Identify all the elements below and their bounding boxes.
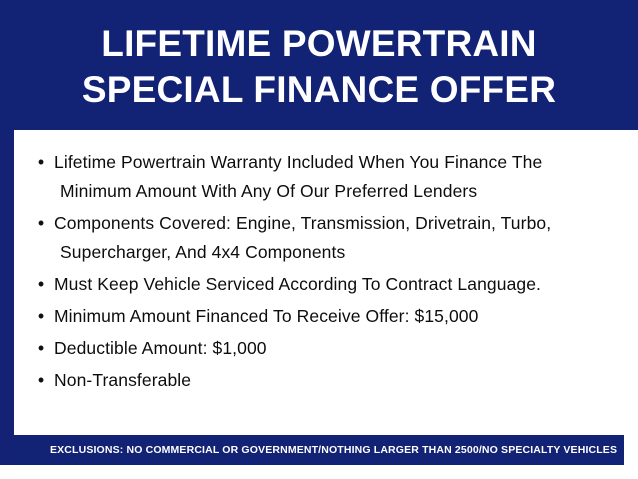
bullet-line: Lifetime Powertrain Warranty Included Wh… bbox=[54, 152, 542, 172]
bullet-line: Deductible Amount: $1,000 bbox=[54, 338, 267, 358]
bullet-dot-icon: • bbox=[28, 148, 54, 177]
bullet-text: Deductible Amount: $1,000 bbox=[54, 334, 624, 363]
bullet-dot-icon: • bbox=[28, 270, 54, 299]
header-title-line-2: SPECIAL FINANCE OFFER bbox=[82, 67, 556, 113]
bullet-list: • Lifetime Powertrain Warranty Included … bbox=[14, 130, 638, 430]
slide-header: LIFETIME POWERTRAIN SPECIAL FINANCE OFFE… bbox=[0, 0, 638, 130]
list-item: • Lifetime Powertrain Warranty Included … bbox=[28, 148, 624, 206]
bullet-line-continued: Minimum Amount With Any Of Our Preferred… bbox=[54, 177, 624, 206]
bullet-line: Components Covered: Engine, Transmission… bbox=[54, 213, 551, 233]
list-item: • Components Covered: Engine, Transmissi… bbox=[28, 209, 624, 267]
bottom-white-strip bbox=[0, 465, 638, 479]
bullet-text: Minimum Amount Financed To Receive Offer… bbox=[54, 302, 624, 331]
bullet-text: Non-Transferable bbox=[54, 366, 624, 395]
bullet-line-continued: Supercharger, And 4x4 Components bbox=[54, 238, 624, 267]
slide: LIFETIME POWERTRAIN SPECIAL FINANCE OFFE… bbox=[0, 0, 638, 479]
header-title-line-1: LIFETIME POWERTRAIN bbox=[101, 21, 536, 67]
list-item: • Deductible Amount: $1,000 bbox=[28, 334, 624, 363]
bullet-line: Non-Transferable bbox=[54, 370, 191, 390]
bullet-text: Components Covered: Engine, Transmission… bbox=[54, 209, 624, 267]
bullet-text: Must Keep Vehicle Serviced According To … bbox=[54, 270, 624, 299]
bullet-line: Minimum Amount Financed To Receive Offer… bbox=[54, 306, 478, 326]
list-item: • Minimum Amount Financed To Receive Off… bbox=[28, 302, 624, 331]
list-item: • Must Keep Vehicle Serviced According T… bbox=[28, 270, 624, 299]
bullet-text: Lifetime Powertrain Warranty Included Wh… bbox=[54, 148, 624, 206]
bullet-dot-icon: • bbox=[28, 334, 54, 363]
bullet-dot-icon: • bbox=[28, 366, 54, 395]
footer-exclusions-text: EXCLUSIONS: NO COMMERCIAL OR GOVERNMENT/… bbox=[50, 444, 617, 456]
bullet-dot-icon: • bbox=[28, 209, 54, 238]
bullet-line: Must Keep Vehicle Serviced According To … bbox=[54, 274, 541, 294]
bullet-dot-icon: • bbox=[28, 302, 54, 331]
list-item: • Non-Transferable bbox=[28, 366, 624, 395]
slide-footer: EXCLUSIONS: NO COMMERCIAL OR GOVERNMENT/… bbox=[14, 435, 624, 465]
